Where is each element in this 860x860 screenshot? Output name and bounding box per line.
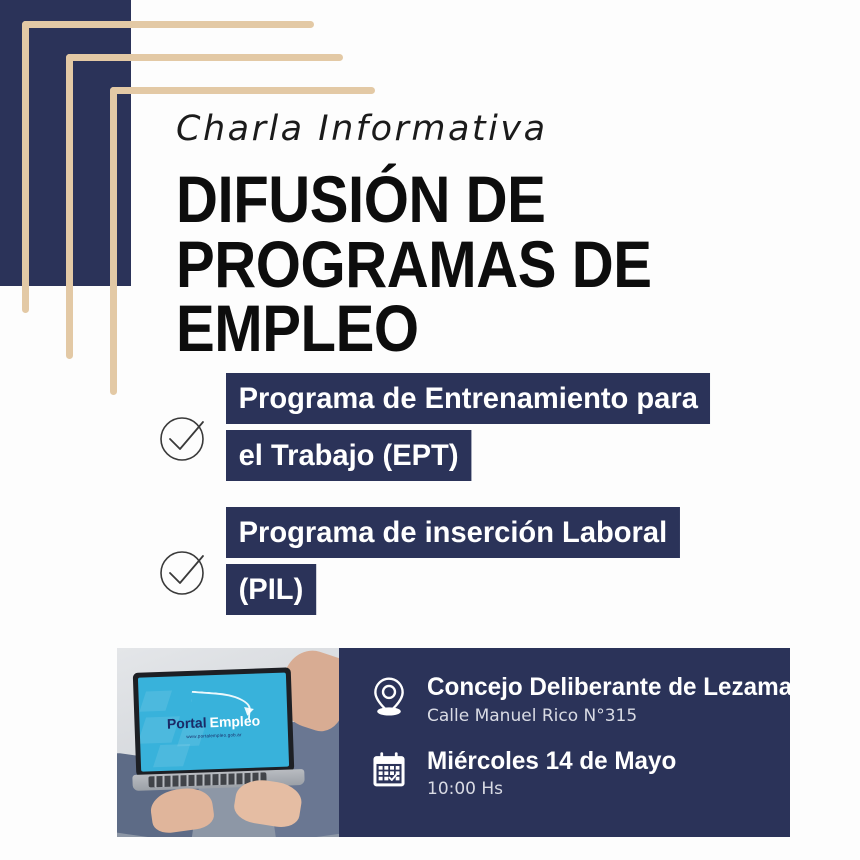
poster-canvas: Charla Informativa DIFUSIÓN DE PROGRAMAS… (0, 0, 860, 860)
program-item-pil-label: Programa de inserción Laboral (PIL) (226, 504, 711, 618)
page-title: DIFUSIÓN DE PROGRAMAS DE EMPLEO (176, 167, 739, 361)
event-date-row: Miércoles 14 de Mayo 10:00 Hs (367, 746, 790, 802)
event-location-row: Concejo Deliberante de Lezama Calle Manu… (367, 672, 790, 728)
program-pil-line1: Programa de inserción Laboral (PIL) (226, 507, 680, 615)
decorative-frame-middle-horizontal (66, 54, 343, 61)
event-time: 10:00 Hs (427, 778, 684, 801)
event-venue-name: Concejo Deliberante de Lezama (427, 673, 790, 702)
calendar-icon (367, 746, 411, 794)
program-item-pil: Programa de inserción Laboral (PIL) (156, 504, 816, 618)
decorative-frame-inner-vertical (110, 87, 117, 395)
laptop-lid: PortalEmpleo www.portalempleo.gob.ar (133, 667, 295, 776)
decorative-frame-outer-vertical (22, 21, 29, 313)
decorative-frame-inner-horizontal (110, 87, 375, 94)
screen-decoration-shape (139, 691, 172, 712)
decorative-frame-outer-horizontal (22, 21, 314, 28)
event-location-text: Concejo Deliberante de Lezama Calle Manu… (427, 672, 790, 728)
laptop-screen: PortalEmpleo www.portalempleo.gob.ar (138, 673, 289, 772)
check-circle-icon (156, 543, 212, 599)
event-info-card: PortalEmpleo www.portalempleo.gob.ar (117, 648, 790, 837)
laptop-brand-wordmark: PortalEmpleo (167, 712, 261, 731)
check-circle-icon (156, 409, 212, 465)
laptop-brand-url: www.portalempleo.gob.ar (186, 732, 242, 739)
program-list: Programa de Entrenamiento parael Trabajo… (156, 370, 816, 638)
event-venue-address: Calle Manuel Rico N°315 (427, 705, 790, 728)
program-item-ept: Programa de Entrenamiento parael Trabajo… (156, 370, 816, 484)
brand-word-empleo: Empleo (209, 712, 260, 730)
event-details: Concejo Deliberante de Lezama Calle Manu… (339, 648, 790, 837)
location-pin-icon (367, 672, 411, 720)
kicker-text: Charla Informativa (176, 112, 816, 147)
program-ept-line1: Programa de Entrenamiento para (226, 373, 710, 424)
brand-word-portal: Portal (167, 714, 207, 731)
laptop-photo: PortalEmpleo www.portalempleo.gob.ar (117, 648, 339, 837)
event-date-text: Miércoles 14 de Mayo 10:00 Hs (427, 746, 684, 802)
heading-block: Charla Informativa DIFUSIÓN DE PROGRAMAS… (176, 112, 816, 361)
program-ept-line2: el Trabajo (EPT) (226, 430, 471, 481)
event-date: Miércoles 14 de Mayo (427, 747, 676, 776)
decorative-frame-middle-vertical (66, 54, 73, 359)
screen-decoration-shape (153, 744, 190, 767)
program-item-ept-label: Programa de Entrenamiento parael Trabajo… (226, 370, 710, 484)
